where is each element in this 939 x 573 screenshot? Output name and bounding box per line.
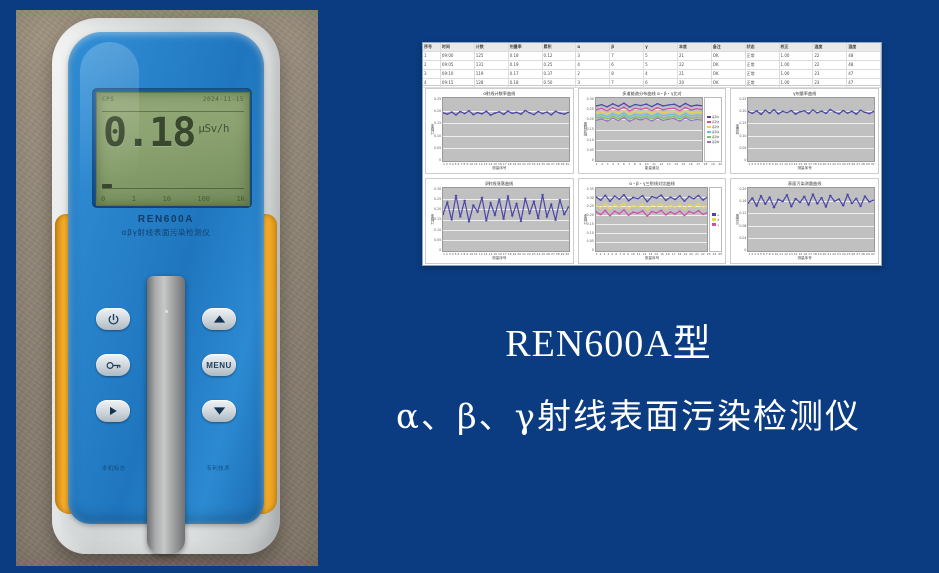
spreadsheet-cell: 22 [813, 61, 847, 69]
spreadsheet-row: 209:051310.190.2546522OK正常1.002248 [423, 61, 881, 70]
device-handle-strip [147, 276, 185, 554]
product-model-title: REN600A型 [318, 312, 939, 367]
spreadsheet-cell: 2 [576, 70, 610, 78]
spreadsheet-header-cell: 剂量率 [509, 43, 543, 51]
menu-button-label: MENU [206, 361, 232, 370]
spreadsheet-header-cell: 累积 [543, 43, 577, 51]
chart-y-ticks: 0.300.250.200.150.100.050 [587, 97, 595, 162]
chart-y-tick: 0.05 [434, 238, 441, 242]
chart-y-tick: 0.05 [587, 239, 594, 243]
chart-y-tick: 0.10 [434, 134, 441, 138]
chart-x-axis-label: 测量序号 [429, 256, 570, 261]
spreadsheet-cell: 1.00 [780, 52, 814, 60]
chart-y-tick: 0.30 [587, 196, 594, 200]
spreadsheet-cell: 6 [644, 79, 678, 87]
chart-y-axis-label: 计数率 [429, 124, 434, 135]
lcd-screen: CPS 2024-11-15 0.18 μSv/h 01101001K [96, 92, 250, 206]
lcd-unit: μSv/h [198, 122, 229, 135]
chart-y-tick: 0.20 [434, 207, 441, 211]
chart-canvas [747, 97, 875, 162]
chart-surface-contamination: 表面污染测量曲线污染度0.200.160.120.080.04012345678… [730, 178, 879, 264]
spreadsheet-cell: 119 [475, 70, 509, 78]
chart-legend-label: β [717, 218, 719, 222]
chart-legend-item: γ [712, 223, 719, 227]
chart-x-axis-label: 测量序号 [734, 166, 875, 171]
spreadsheet-cell: 4 [423, 79, 441, 87]
spreadsheet-cell: 22 [678, 61, 712, 69]
spreadsheet-cell: 48 [847, 61, 881, 69]
up-button[interactable] [202, 308, 236, 330]
spreadsheet-cell: 131 [475, 61, 509, 69]
chart-legend-label: γ [717, 223, 719, 227]
device-branding: REN600A αβγ射线表面污染检测仪 [68, 214, 264, 238]
down-button[interactable] [202, 400, 236, 422]
chart-legend-item: 系列1 [707, 115, 719, 119]
chart-y-tick: 0.05 [739, 146, 746, 150]
chart-y-tick: 0.10 [587, 231, 594, 235]
spreadsheet-cell: 7 [610, 79, 644, 87]
chart-legend: αβγ [709, 187, 722, 252]
spreadsheet-row: 409:151280.180.5037620OK正常1.002347 [423, 79, 881, 88]
spreadsheet-cell: 3 [576, 52, 610, 60]
spreadsheet-header-cell: 校正 [780, 43, 814, 51]
spreadsheet-cell: 0.25 [543, 61, 577, 69]
play-button[interactable] [96, 400, 130, 422]
chart-legend-label: 系列5 [712, 135, 719, 139]
spreadsheet-header-cell: 备注 [712, 43, 746, 51]
spreadsheet-cell: 4 [644, 70, 678, 78]
lcd-reading: 0.18 μSv/h [103, 115, 244, 151]
chart-y-tick: 0.15 [434, 121, 441, 125]
spreadsheet-cell: 47 [847, 79, 881, 87]
chart-legend-label: 系列4 [712, 130, 719, 134]
lcd-bargraph-track [102, 183, 244, 189]
chart-x-axis-label: 测量序号 [429, 166, 570, 171]
chart-y-tick: 0.05 [587, 148, 594, 152]
spreadsheet-cell: 0.37 [543, 70, 577, 78]
chart-y-axis-label: 剂量率 [734, 124, 739, 135]
spreadsheet-row: 309:101190.170.3728421OK正常1.002347 [423, 70, 881, 79]
spreadsheet-header-row: 序号时间计数剂量率累积αβγ本底备注状态校正温度湿度 [423, 43, 881, 52]
play-icon [107, 405, 119, 417]
chart-y-tick: 0.12 [739, 211, 746, 215]
spreadsheet-cell: 6 [610, 61, 644, 69]
chart-y-tick: 0.05 [434, 146, 441, 150]
chart-y-tick: 0.35 [587, 187, 594, 191]
power-button[interactable] [96, 308, 130, 330]
radiation-detector-device: CPS 2024-11-15 0.18 μSv/h 01101001K [52, 18, 280, 554]
chart-gridline [443, 251, 569, 252]
chart-y-tick: 0.20 [587, 117, 594, 121]
lcd-scale-tick: 1K [237, 195, 245, 203]
chart-x-axis-label: 能量道址 [582, 166, 723, 171]
chart-legend-label: 系列3 [712, 125, 719, 129]
spreadsheet-cell: 正常 [746, 61, 780, 69]
spreadsheet-header-cell: 湿度 [847, 43, 881, 51]
chart-y-tick: 0.30 [434, 187, 441, 191]
chart-y-axis-label: 污染度 [734, 214, 739, 225]
charts-grid: α射线计数率曲线计数率0.250.200.150.100.05012345678… [423, 86, 881, 266]
product-photograph: CPS 2024-11-15 0.18 μSv/h 01101001K [16, 10, 318, 566]
chart-y-tick: 0.10 [434, 228, 441, 232]
chart-beta-fluctuation: β射线涨落曲线计数率0.300.250.200.150.100.05012345… [425, 178, 574, 264]
chart-y-tick: 0.20 [739, 187, 746, 191]
chart-plot-area: 计数率0.300.250.200.150.100.050 [429, 187, 570, 252]
spreadsheet-cell: 0.18 [509, 52, 543, 60]
spreadsheet-cell: 48 [847, 52, 881, 60]
chart-legend-swatch [712, 213, 716, 216]
lcd-scale-tick: 0 [101, 195, 105, 203]
chart-gridline [596, 251, 708, 252]
spreadsheet-cell: 09:00 [441, 52, 475, 60]
spreadsheet-cell: 128 [475, 79, 509, 87]
foot-mark-right: 专利技术 [206, 464, 230, 472]
lcd-bargraph-fill [102, 184, 112, 188]
foot-mark-left: 本机标志 [102, 464, 126, 472]
spreadsheet-header-cell: 本底 [678, 43, 712, 51]
spreadsheet-cell: OK [712, 61, 746, 69]
spreadsheet-cell: OK [712, 52, 746, 60]
spreadsheet-cell: 正常 [746, 79, 780, 87]
lcd-scale-tick: 10 [162, 195, 170, 203]
lcd-bezel: CPS 2024-11-15 0.18 μSv/h 01101001K [92, 88, 252, 208]
chart-y-ticks: 0.250.200.150.100.050 [739, 97, 747, 162]
chart-legend-swatch [707, 141, 711, 144]
chart-plot-area: 计数率0.350.300.250.200.150.100.050αβγ [582, 187, 723, 252]
lcd-status-left: CPS [102, 96, 114, 103]
chart-canvas [595, 187, 709, 252]
chart-gamma-dose-rate: γ剂量率曲线剂量率0.250.200.150.100.0501234567891… [730, 88, 879, 174]
spreadsheet-header-cell: β [610, 43, 644, 51]
chart-y-ticks: 0.250.200.150.100.050 [434, 97, 442, 162]
spreadsheet-region: 序号时间计数剂量率累积αβγ本底备注状态校正温度湿度109:001250.180… [423, 43, 881, 86]
spreadsheet-cell: 0.19 [509, 61, 543, 69]
chart-legend-item: β [712, 218, 719, 222]
spreadsheet-row: 109:001250.180.1237521OK正常1.002248 [423, 52, 881, 61]
spreadsheet-header-cell: 计数 [475, 43, 509, 51]
spreadsheet-cell: 1.00 [780, 70, 814, 78]
spreadsheet-cell: 0.12 [543, 52, 577, 60]
chart-y-ticks: 0.350.300.250.200.150.100.050 [587, 187, 595, 252]
spreadsheet-cell: 4 [576, 61, 610, 69]
spreadsheet-cell: 09:05 [441, 61, 475, 69]
spreadsheet-header-cell: 状态 [746, 43, 780, 51]
spreadsheet-cell: 3 [423, 70, 441, 78]
device-model-label: REN600A [68, 214, 264, 225]
chart-plot-area: 污染度0.200.160.120.080.040 [734, 187, 875, 252]
spreadsheet-header-cell: α [576, 43, 610, 51]
spreadsheet-cell: 正常 [746, 70, 780, 78]
spreadsheet-cell: 22 [813, 52, 847, 60]
spreadsheet-cell: 0.18 [509, 79, 543, 87]
spreadsheet-cell: 125 [475, 52, 509, 60]
spreadsheet-cell: 47 [847, 70, 881, 78]
chart-y-tick: 0.15 [434, 217, 441, 221]
spreadsheet-cell: 1.00 [780, 79, 814, 87]
chart-legend-label: 系列2 [712, 120, 719, 124]
spreadsheet-cell: 0.17 [509, 70, 543, 78]
chart-y-tick: 0.30 [587, 97, 594, 101]
chart-y-tick: 0.25 [434, 97, 441, 101]
chart-legend-swatch [712, 218, 716, 221]
chart-y-tick: 0.25 [434, 197, 441, 201]
chart-y-tick: 0.08 [739, 224, 746, 228]
menu-button[interactable]: MENU [202, 354, 236, 376]
spreadsheet-cell: 5 [644, 61, 678, 69]
spreadsheet-cell: 0.50 [543, 79, 577, 87]
spreadsheet-cell: 3 [576, 79, 610, 87]
chart-plot-area: 计数率0.250.200.150.100.050 [429, 97, 570, 162]
chart-legend-item: 系列6 [707, 140, 719, 144]
spreadsheet-cell: 7 [610, 52, 644, 60]
spreadsheet-cell: 8 [610, 70, 644, 78]
chart-three-ray-comparison: α・β・γ三射线对比曲线计数率0.350.300.250.200.150.100… [578, 178, 727, 264]
spreadsheet-cell: 正常 [746, 52, 780, 60]
slide-canvas: CPS 2024-11-15 0.18 μSv/h 01101001K [0, 0, 939, 573]
spreadsheet-cell: OK [712, 70, 746, 78]
chart-x-axis-label: 测量序号 [734, 256, 875, 261]
product-description-title: α、β、γ射线表面污染检测仪 [318, 389, 939, 438]
chart-y-tick: 0.15 [587, 222, 594, 226]
chart-y-tick: 0.25 [587, 204, 594, 208]
spreadsheet-cell: OK [712, 79, 746, 87]
chart-gridline [596, 161, 702, 162]
spreadsheet-cell: 2 [423, 61, 441, 69]
lcd-bargraph [102, 183, 244, 189]
chart-legend-item: 系列3 [707, 125, 719, 129]
chart-y-ticks: 0.200.160.120.080.040 [739, 187, 747, 252]
analysis-software-screenshot: 序号时间计数剂量率累积αβγ本底备注状态校正温度湿度109:001250.180… [422, 42, 882, 266]
spreadsheet-cell: 20 [678, 79, 712, 87]
chart-y-tick: 0.20 [434, 109, 441, 113]
lcd-scale-tick: 100 [197, 195, 210, 203]
chart-y-tick: 0.16 [739, 199, 746, 203]
chart-alpha-count-rate: α射线计数率曲线计数率0.250.200.150.100.05012345678… [425, 88, 574, 174]
chart-y-tick: 0.15 [587, 127, 594, 131]
chart-y-axis-label: 计数率 [582, 214, 587, 225]
spreadsheet-cell: 21 [678, 70, 712, 78]
chart-y-tick: 0.25 [587, 107, 594, 111]
triangle-down-icon [213, 406, 226, 416]
spreadsheet-header-cell: 温度 [813, 43, 847, 51]
chart-gridline [748, 251, 874, 252]
chart-legend-item: 系列5 [707, 135, 719, 139]
spreadsheet-cell: 09:15 [441, 79, 475, 87]
chart-canvas [747, 187, 875, 252]
chart-gridline [748, 161, 874, 162]
spreadsheet-header-cell: 时间 [441, 43, 475, 51]
search-button[interactable] [96, 354, 130, 376]
key-icon [106, 360, 121, 371]
chart-plot-area: 剂量率0.250.200.150.100.050 [734, 97, 875, 162]
chart-legend-swatch [707, 121, 711, 124]
chart-y-axis-label: 相对强度 [582, 122, 587, 136]
chart-y-tick: 0.10 [739, 134, 746, 138]
triangle-up-icon [213, 314, 226, 324]
chart-legend-label: α [717, 213, 719, 217]
chart-legend-item: α [712, 213, 719, 217]
chart-y-tick: 0.04 [739, 236, 746, 240]
power-icon [107, 313, 120, 326]
spreadsheet-header-cell: 序号 [423, 43, 441, 51]
title-block: REN600A型 α、β、γ射线表面污染检测仪 [318, 312, 939, 492]
chart-canvas [595, 97, 703, 162]
chart-canvas [442, 187, 570, 252]
spreadsheet-cell: 23 [813, 70, 847, 78]
chart-legend-swatch [707, 131, 711, 134]
chart-y-tick: 0.15 [739, 121, 746, 125]
chart-legend-label: 系列1 [712, 115, 719, 119]
spreadsheet-cell: 1 [423, 52, 441, 60]
chart-legend-swatch [707, 116, 711, 119]
spreadsheet-cell: 23 [813, 79, 847, 87]
lcd-status-bar: CPS 2024-11-15 [102, 96, 244, 103]
chart-y-tick: 0.20 [587, 213, 594, 217]
lcd-scale-tick: 1 [132, 195, 136, 203]
chart-legend-swatch [707, 126, 711, 129]
lcd-status-right: 2024-11-15 [203, 96, 244, 103]
lcd-scale-ticks: 01101001K [101, 195, 245, 203]
spreadsheet-cell: 21 [678, 52, 712, 60]
spreadsheet-cell: 1.00 [780, 61, 814, 69]
chart-gridline [443, 161, 569, 162]
device-subtitle-label: αβγ射线表面污染检测仪 [68, 227, 264, 238]
lcd-value: 0.18 [103, 115, 195, 151]
chart-canvas [442, 97, 570, 162]
chart-plot-area: 相对强度0.300.250.200.150.100.050系列1系列2系列3系列… [582, 97, 723, 162]
chart-legend-swatch [707, 136, 711, 139]
chart-legend-item: 系列2 [707, 120, 719, 124]
chart-y-axis-label: 计数率 [429, 214, 434, 225]
chart-y-tick: 0.20 [739, 109, 746, 113]
chart-x-axis-label: 测量序号 [582, 256, 723, 261]
spreadsheet-cell: 5 [644, 52, 678, 60]
spreadsheet-header-cell: γ [644, 43, 678, 51]
spreadsheet-cell: 09:10 [441, 70, 475, 78]
chart-y-tick: 0.25 [739, 97, 746, 101]
chart-legend-item: 系列4 [707, 130, 719, 134]
chart-multichannel-spectrum: 多道能谱分布曲线 α・β・γ比对相对强度0.300.250.200.150.10… [578, 88, 727, 174]
chart-y-ticks: 0.300.250.200.150.100.050 [434, 187, 442, 252]
chart-legend: 系列1系列2系列3系列4系列5系列6 [704, 97, 722, 162]
chart-y-tick: 0.10 [587, 138, 594, 142]
chart-legend-label: 系列6 [712, 140, 719, 144]
chart-legend-swatch [712, 223, 716, 226]
